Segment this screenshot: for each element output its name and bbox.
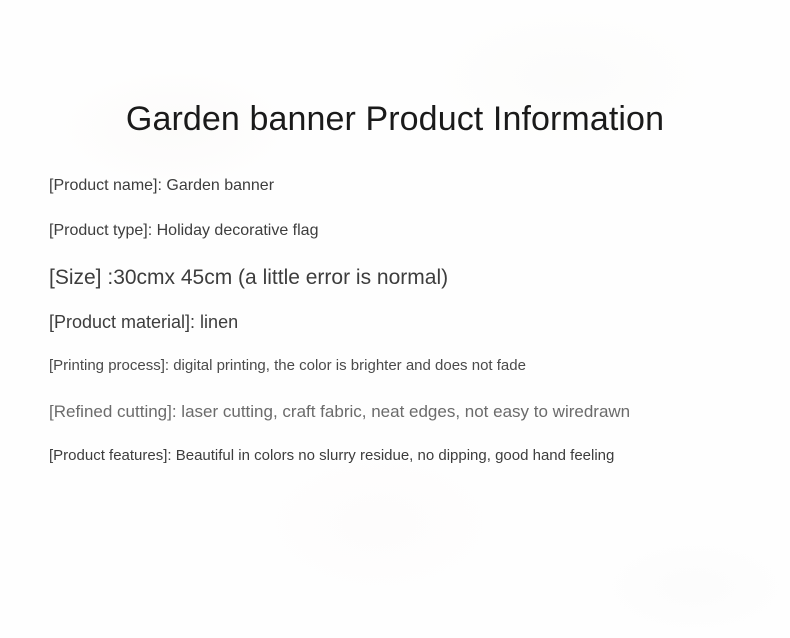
- spec-line-product-features: [Product features]: Beautiful in colors …: [49, 446, 749, 465]
- product-information-page: Garden banner Product Information [Produ…: [0, 0, 790, 638]
- spec-line-product-name: [Product name]: Garden banner: [49, 176, 749, 196]
- spec-line-product-material: [Product material]: linen: [49, 311, 749, 333]
- spec-line-printing-process: [Printing process]: digital printing, th…: [49, 356, 749, 375]
- spec-line-size: [Size] :30cmx 45cm (a little error is no…: [49, 265, 749, 291]
- spec-line-product-type: [Product type]: Holiday decorative flag: [49, 221, 749, 241]
- product-spec-list: [Product name]: Garden banner [Product t…: [49, 176, 749, 465]
- page-title: Garden banner Product Information: [0, 97, 790, 141]
- spec-line-refined-cutting: [Refined cutting]: laser cutting, craft …: [49, 401, 749, 422]
